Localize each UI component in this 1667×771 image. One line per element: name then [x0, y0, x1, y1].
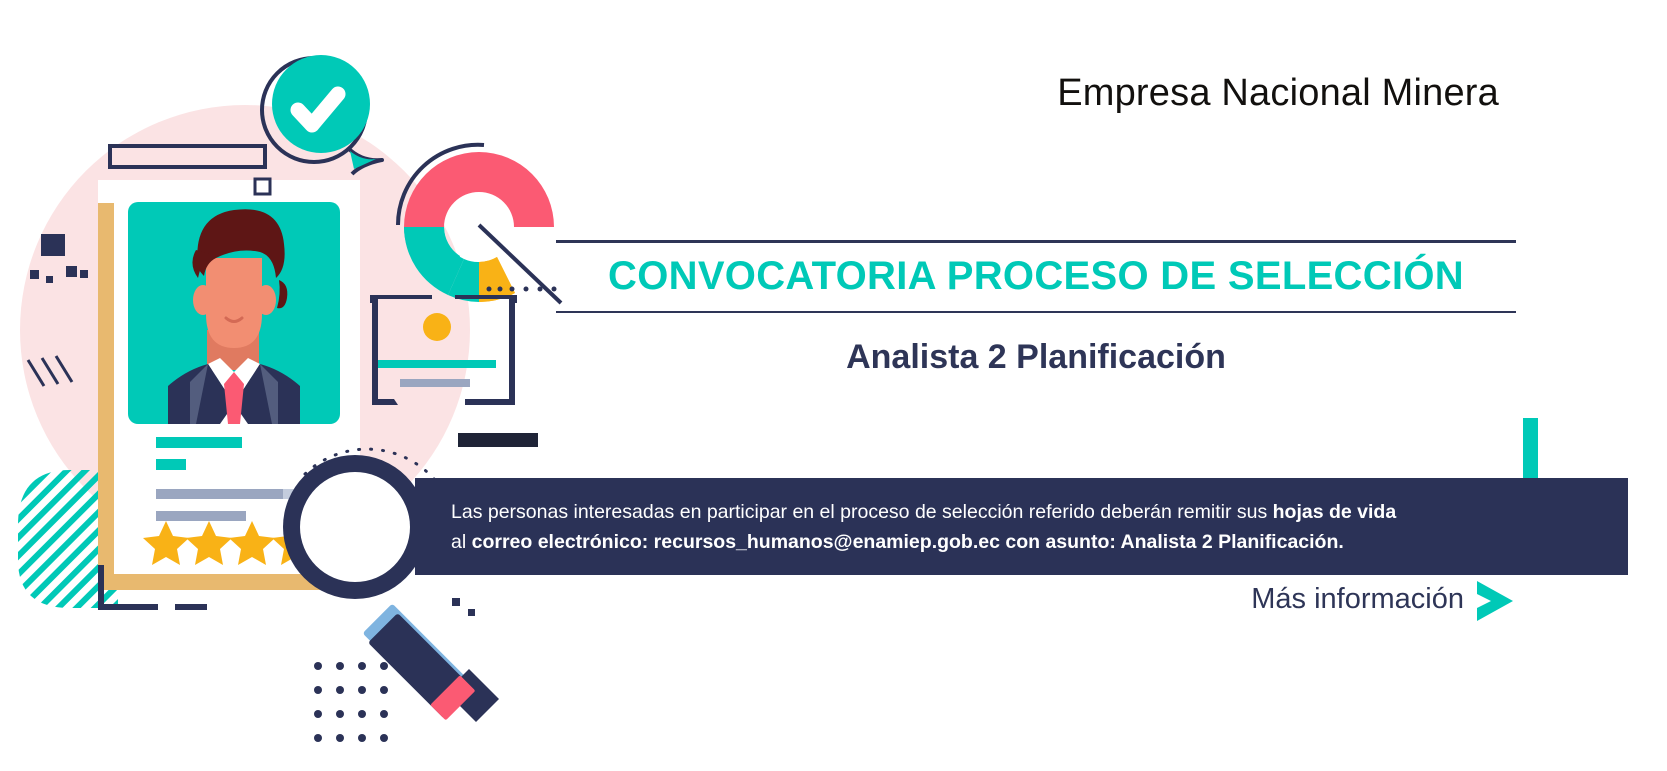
decor-square: [66, 266, 77, 277]
banner-line2-bold: correo electrónico: recursos_humanos@ena…: [472, 531, 1344, 553]
decor-square: [80, 270, 88, 278]
cv-line-grey: [156, 511, 246, 521]
decor-bar: [98, 565, 104, 610]
cv-line-teal: [156, 437, 242, 448]
decor-dot-grid: [314, 662, 388, 742]
page-title: CONVOCATORIA PROCESO DE SELECCIÓN: [556, 243, 1516, 311]
title-block: CONVOCATORIA PROCESO DE SELECCIÓN: [556, 240, 1516, 313]
decor-square: [41, 234, 65, 256]
poster-canvas: Empresa Nacional Minera CONVOCATORIA PRO…: [0, 0, 1667, 771]
decor-bar: [175, 604, 207, 610]
page-subtitle: Analista 2 Planificación: [556, 338, 1516, 377]
decor-bar: [458, 433, 538, 447]
chevron-right-icon[interactable]: [1471, 578, 1519, 624]
banner-line1-regular: Las personas interesadas en participar e…: [451, 501, 1273, 523]
decor-square: [30, 270, 39, 279]
banner-line1-bold: hojas de vida: [1273, 501, 1397, 523]
decor-square: [452, 598, 460, 606]
banner-text: Las personas interesadas en participar e…: [451, 497, 1586, 557]
decor-bar: [98, 604, 158, 610]
decor-square: [468, 609, 475, 616]
more-info-label[interactable]: Más información: [1251, 583, 1464, 616]
info-banner: Las personas interesadas en participar e…: [415, 478, 1628, 575]
title-rule-bottom: [556, 311, 1516, 313]
cv-line-teal: [156, 459, 186, 470]
company-name: Empresa Nacional Minera: [1057, 72, 1499, 115]
cv-card-edge: [98, 203, 114, 590]
banner-line2-regular: al: [451, 531, 472, 553]
decor-square: [46, 276, 53, 283]
cv-profile-illustration: [0, 0, 570, 771]
cv-line-grey: [156, 489, 283, 499]
